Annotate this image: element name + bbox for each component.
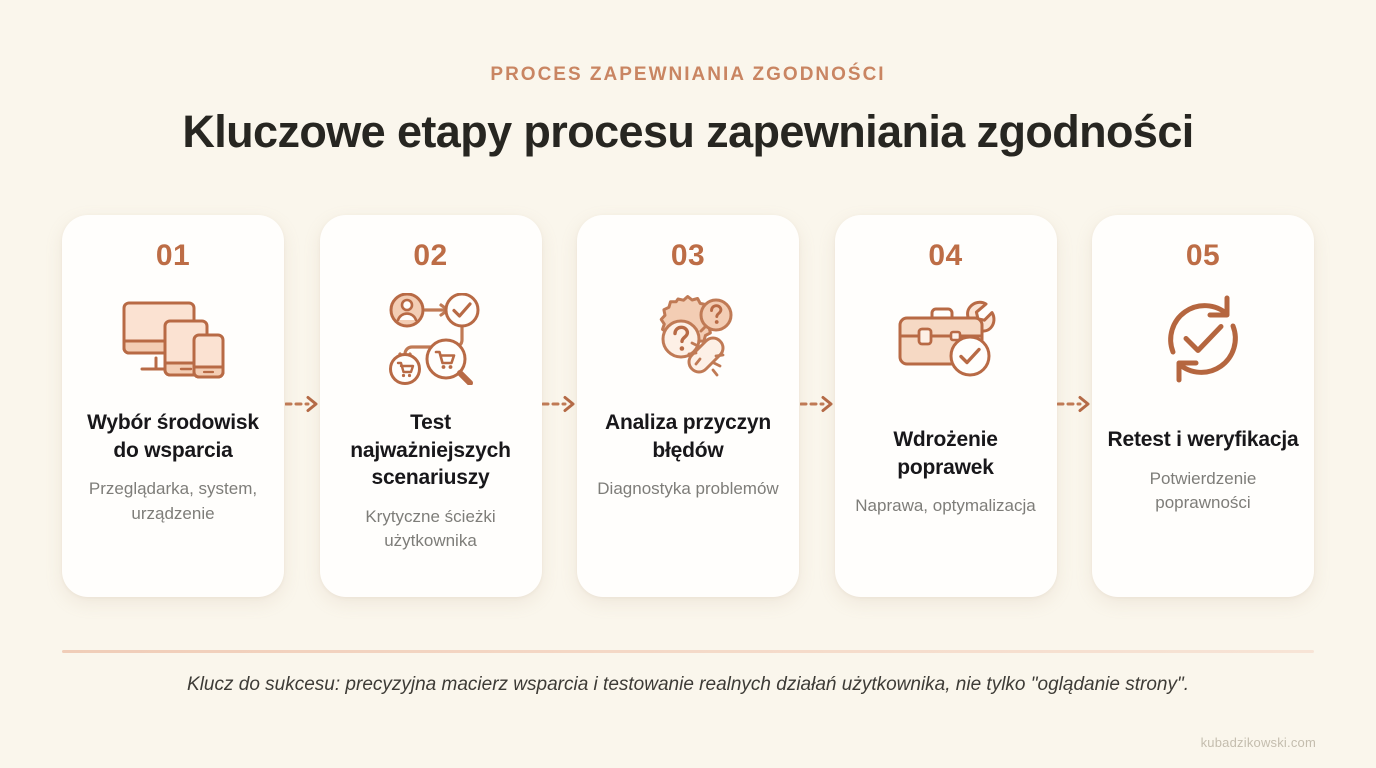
step-card-03[interactable]: 03	[577, 215, 799, 597]
steps-row: 01 Wybór	[62, 215, 1314, 597]
step-title: Wdrożenie poprawek	[849, 426, 1043, 481]
gear-question-icon	[632, 293, 744, 385]
footer-note: Klucz do sukcesu: precyzyjna macierz wsp…	[0, 672, 1376, 699]
step-card-01[interactable]: 01 Wybór	[62, 215, 284, 597]
step-title: Retest i weryfikacja	[1108, 426, 1299, 454]
step-card-05[interactable]: 05 Retest i weryfikacja Potwierdzenie po…	[1092, 215, 1314, 597]
step-description: Krytyczne ścieżki użytkownika	[334, 505, 528, 553]
devices-icon	[117, 293, 229, 385]
step-card-04[interactable]: 04 Wdrożenie poprawek Na	[835, 215, 1057, 597]
step-description: Przeglądarka, system, urządzenie	[76, 477, 270, 525]
step-title: Test najważniejszych scenariuszy	[334, 409, 528, 492]
arrow-connector-1	[285, 393, 319, 415]
step-number: 04	[928, 241, 962, 271]
header: PROCES ZAPEWNIANIA ZGODNOŚCI Kluczowe et…	[0, 0, 1376, 157]
step-description: Diagnostyka problemów	[597, 477, 778, 501]
step-number: 02	[413, 241, 447, 271]
step-number: 01	[156, 241, 190, 271]
eyebrow-label: PROCES ZAPEWNIANIA ZGODNOŚCI	[0, 64, 1376, 87]
toolbox-wrench-check-icon	[890, 293, 1002, 385]
step-number: 03	[671, 241, 705, 271]
watermark: kubadzikowski.com	[1201, 735, 1316, 750]
footer-divider	[62, 650, 1314, 653]
step-title: Analiza przyczyn błędów	[591, 409, 785, 464]
arrow-connector-4	[1057, 393, 1091, 415]
user-flow-icon	[375, 293, 487, 385]
step-number: 05	[1186, 241, 1220, 271]
refresh-check-icon	[1147, 293, 1259, 385]
step-description: Naprawa, optymalizacja	[855, 494, 1035, 518]
step-card-02[interactable]: 02	[320, 215, 542, 597]
step-title: Wybór środowisk do wsparcia	[76, 409, 270, 464]
infographic-root: PROCES ZAPEWNIANIA ZGODNOŚCI Kluczowe et…	[0, 0, 1376, 768]
arrow-connector-2	[542, 393, 576, 415]
arrow-connector-3	[800, 393, 834, 415]
page-title: Kluczowe etapy procesu zapewniania zgodn…	[0, 107, 1376, 157]
step-description: Potwierdzenie poprawności	[1106, 467, 1300, 515]
